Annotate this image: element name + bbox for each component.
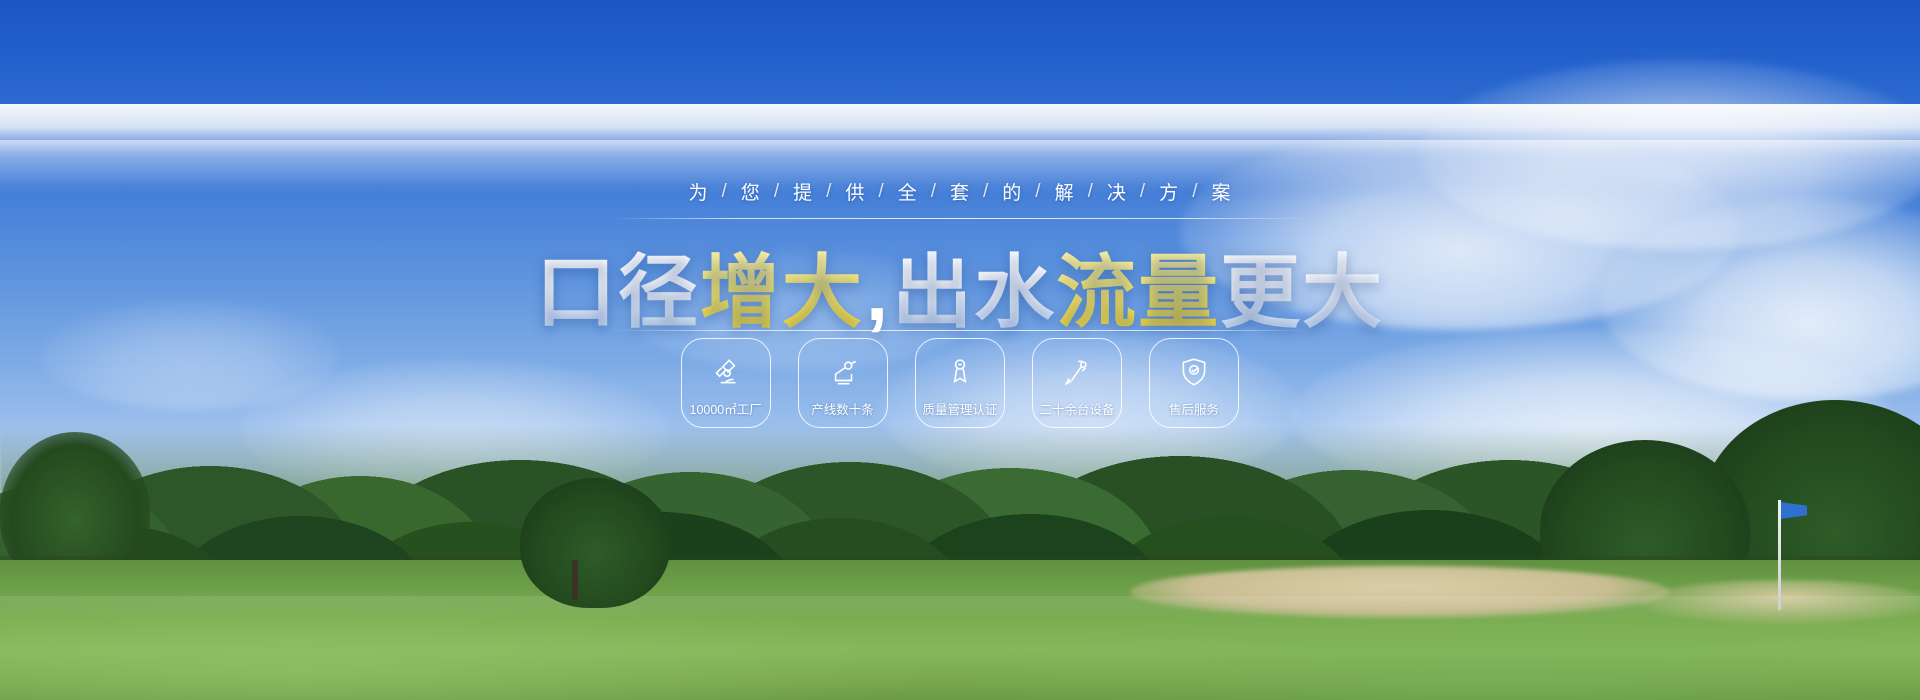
tagline-separator: / — [1192, 181, 1198, 203]
production-line-icon — [826, 355, 860, 389]
tagline-separator: / — [722, 181, 728, 203]
tagline-separator: / — [1035, 181, 1041, 203]
tagline-separator: / — [1088, 181, 1094, 203]
divider-above-headline — [610, 218, 1310, 219]
tagline-char: 决 — [1107, 178, 1127, 205]
feature-badge-3[interactable]: 质量管理认证 — [915, 338, 1005, 428]
certificate-medal-icon — [943, 355, 977, 389]
feature-badge-list: 10000㎡工厂产线数十条质量管理认证二十余台设备售后服务 — [0, 338, 1920, 428]
headline-segment: 增大 — [700, 248, 864, 337]
page-title: 口径增大,出水流量更大 — [0, 228, 1920, 344]
headline-segment: 更大 — [1220, 248, 1384, 337]
tagline-separator: / — [826, 181, 832, 203]
microscope-icon — [709, 355, 743, 389]
divider-below-headline — [610, 330, 1310, 331]
feature-badge-label: 售后服务 — [1169, 399, 1219, 417]
tagline: 为/您/提/供/全/套/的/解/决/方/案 — [678, 178, 1243, 205]
tagline-separator: / — [983, 181, 989, 203]
feature-badge-4[interactable]: 二十余台设备 — [1032, 338, 1122, 428]
tagline-char: 套 — [950, 178, 970, 205]
feature-badge-label: 质量管理认证 — [923, 399, 998, 417]
banner-content: INTEGRATED SEWAGE TREATMENT 为/您/提/供/全/套/… — [0, 0, 1920, 700]
tagline-char: 全 — [898, 178, 918, 205]
tagline-separator: / — [931, 181, 937, 203]
tagline-separator: / — [774, 181, 780, 203]
feature-badge-2[interactable]: 产线数十条 — [798, 338, 888, 428]
tagline-char: 为 — [689, 178, 709, 205]
tagline-char: 案 — [1211, 178, 1231, 205]
feature-badge-label: 10000㎡工厂 — [690, 399, 762, 417]
equipment-tool-icon — [1060, 355, 1094, 389]
headline-segment: 流量 — [1056, 248, 1220, 337]
tagline-char: 提 — [793, 178, 813, 205]
headline-segment: , — [864, 248, 892, 337]
headline-segment: 口径 — [536, 248, 700, 337]
feature-badge-5[interactable]: 售后服务 — [1149, 338, 1239, 428]
shield-check-icon — [1177, 355, 1211, 389]
hero-banner: INTEGRATED SEWAGE TREATMENT 为/您/提/供/全/套/… — [0, 0, 1920, 700]
tagline-char: 的 — [1002, 178, 1022, 205]
tagline-separator: / — [878, 181, 884, 203]
tagline-char: 解 — [1055, 178, 1075, 205]
feature-badge-label: 产线数十条 — [812, 399, 874, 417]
tagline-char: 供 — [845, 178, 865, 205]
feature-badge-label: 二十余台设备 — [1040, 399, 1115, 417]
tagline-char: 您 — [741, 178, 761, 205]
feature-badge-1[interactable]: 10000㎡工厂 — [681, 338, 771, 428]
tagline-separator: / — [1140, 181, 1146, 203]
tagline-char: 方 — [1159, 178, 1179, 205]
tagline-block: 为/您/提/供/全/套/的/解/决/方/案 — [0, 178, 1920, 219]
headline-segment: 出水 — [892, 248, 1056, 337]
